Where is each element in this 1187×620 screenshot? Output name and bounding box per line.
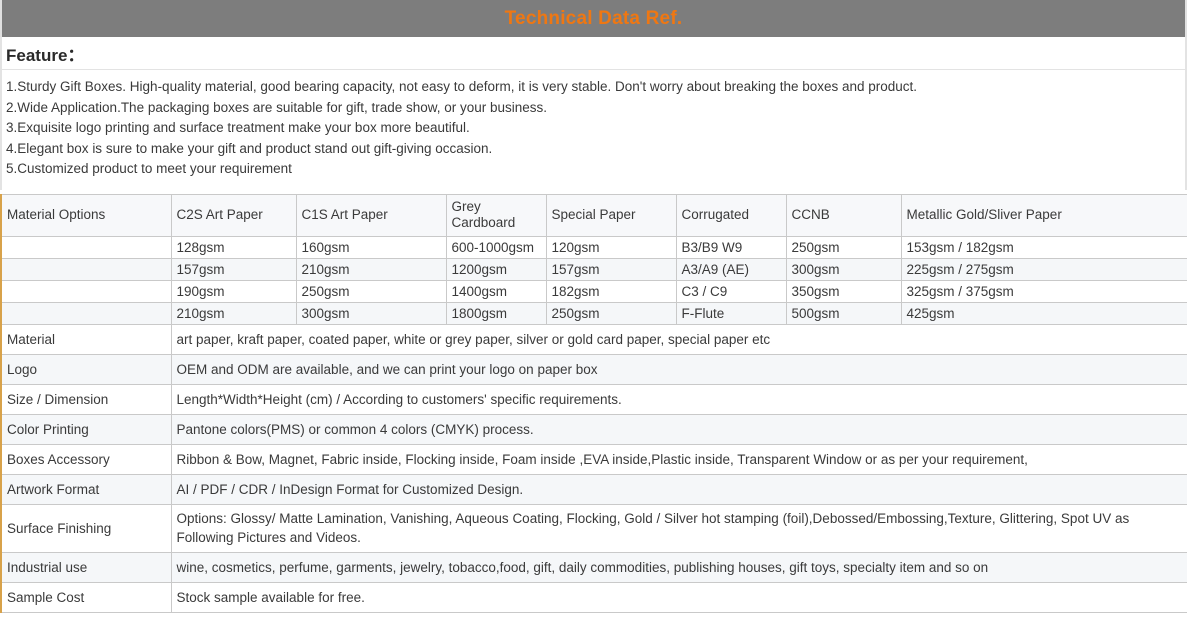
title-banner: Technical Data Ref. xyxy=(0,0,1187,37)
specification-table: Material Options C2S Art Paper C1S Art P… xyxy=(0,194,1187,613)
cell-ccnb: 250gsm xyxy=(786,236,901,258)
cell-c1s: 160gsm xyxy=(296,236,446,258)
table-row-boxes-accessory: Boxes Accessory Ribbon & Bow, Magnet, Fa… xyxy=(1,444,1187,474)
cell-c2s: 210gsm xyxy=(171,302,296,324)
row-value-surface-finishing: Options: Glossy/ Matte Lamination, Vanis… xyxy=(171,504,1187,552)
cell-metallic: 225gsm / 275gsm xyxy=(901,258,1187,280)
cell-c1s: 250gsm xyxy=(296,280,446,302)
cell-c2s: 190gsm xyxy=(171,280,296,302)
table-row-material: Material art paper, kraft paper, coated … xyxy=(1,324,1187,354)
row-value-color-printing: Pantone colors(PMS) or common 4 colors (… xyxy=(171,414,1187,444)
row-label-color-printing: Color Printing xyxy=(1,414,171,444)
cell-material-options xyxy=(1,236,171,258)
cell-special-paper: 250gsm xyxy=(546,302,676,324)
cell-grey-cardboard: 600-1000gsm xyxy=(446,236,546,258)
cell-c1s: 210gsm xyxy=(296,258,446,280)
table-row: 210gsm 300gsm 1800gsm 250gsm F-Flute 500… xyxy=(1,302,1187,324)
table-row-size-dimension: Size / Dimension Length*Width*Height (cm… xyxy=(1,384,1187,414)
row-value-artwork-format: AI / PDF / CDR / InDesign Format for Cus… xyxy=(171,474,1187,504)
row-label-sample-cost: Sample Cost xyxy=(1,582,171,612)
table-row-sample-cost: Sample Cost Stock sample available for f… xyxy=(1,582,1187,612)
table-row-color-printing: Color Printing Pantone colors(PMS) or co… xyxy=(1,414,1187,444)
feature-line: 1.Sturdy Gift Boxes. High-quality materi… xyxy=(6,77,1181,98)
column-header-material-options: Material Options xyxy=(1,194,171,236)
table-row: 190gsm 250gsm 1400gsm 182gsm C3 / C9 350… xyxy=(1,280,1187,302)
table-row-surface-finishing: Surface Finishing Options: Glossy/ Matte… xyxy=(1,504,1187,552)
cell-material-options xyxy=(1,258,171,280)
column-header-metallic-paper: Metallic Gold/Sliver Paper xyxy=(901,194,1187,236)
row-label-surface-finishing: Surface Finishing xyxy=(1,504,171,552)
row-value-sample-cost: Stock sample available for free. xyxy=(171,582,1187,612)
table-row-industrial-use: Industrial use wine, cosmetics, perfume,… xyxy=(1,552,1187,582)
cell-metallic: 153gsm / 182gsm xyxy=(901,236,1187,258)
cell-metallic: 425gsm xyxy=(901,302,1187,324)
column-header-grey-cardboard: Grey Cardboard xyxy=(446,194,546,236)
cell-grey-cardboard: 1800gsm xyxy=(446,302,546,324)
technical-data-sheet: Technical Data Ref. Feature： 1.Sturdy Gi… xyxy=(0,0,1187,620)
material-table-header-row: Material Options C2S Art Paper C1S Art P… xyxy=(1,194,1187,236)
row-label-material: Material xyxy=(1,324,171,354)
cell-corrugated: A3/A9 (AE) xyxy=(676,258,786,280)
cell-special-paper: 157gsm xyxy=(546,258,676,280)
cell-corrugated: C3 / C9 xyxy=(676,280,786,302)
row-label-artwork-format: Artwork Format xyxy=(1,474,171,504)
cell-c1s: 300gsm xyxy=(296,302,446,324)
cell-special-paper: 120gsm xyxy=(546,236,676,258)
cell-ccnb: 300gsm xyxy=(786,258,901,280)
column-header-ccnb: CCNB xyxy=(786,194,901,236)
cell-metallic: 325gsm / 375gsm xyxy=(901,280,1187,302)
cell-corrugated: F-Flute xyxy=(676,302,786,324)
cell-ccnb: 350gsm xyxy=(786,280,901,302)
cell-grey-cardboard: 1400gsm xyxy=(446,280,546,302)
column-header-c2s-art-paper: C2S Art Paper xyxy=(171,194,296,236)
cell-material-options xyxy=(1,280,171,302)
feature-list: 1.Sturdy Gift Boxes. High-quality materi… xyxy=(0,70,1187,190)
feature-heading: Feature： xyxy=(6,41,84,66)
row-value-industrial-use: wine, cosmetics, perfume, garments, jewe… xyxy=(171,552,1187,582)
table-row: 128gsm 160gsm 600-1000gsm 120gsm B3/B9 W… xyxy=(1,236,1187,258)
feature-line: 5.Customized product to meet your requir… xyxy=(6,159,1181,180)
row-value-boxes-accessory: Ribbon & Bow, Magnet, Fabric inside, Flo… xyxy=(171,444,1187,474)
row-label-boxes-accessory: Boxes Accessory xyxy=(1,444,171,474)
cell-corrugated: B3/B9 W9 xyxy=(676,236,786,258)
column-header-corrugated: Corrugated xyxy=(676,194,786,236)
page-title: Technical Data Ref. xyxy=(505,9,683,28)
feature-heading-bar: Feature： xyxy=(0,37,1187,70)
row-label-size-dimension: Size / Dimension xyxy=(1,384,171,414)
row-value-logo: OEM and ODM are available, and we can pr… xyxy=(171,354,1187,384)
row-value-size-dimension: Length*Width*Height (cm) / According to … xyxy=(171,384,1187,414)
cell-grey-cardboard: 1200gsm xyxy=(446,258,546,280)
cell-c2s: 157gsm xyxy=(171,258,296,280)
feature-line: 4.Elegant box is sure to make your gift … xyxy=(6,139,1181,160)
table-row-artwork-format: Artwork Format AI / PDF / CDR / InDesign… xyxy=(1,474,1187,504)
column-header-c1s-art-paper: C1S Art Paper xyxy=(296,194,446,236)
feature-line: 2.Wide Application.The packaging boxes a… xyxy=(6,98,1181,119)
table-row: 157gsm 210gsm 1200gsm 157gsm A3/A9 (AE) … xyxy=(1,258,1187,280)
row-label-industrial-use: Industrial use xyxy=(1,552,171,582)
table-row-logo: Logo OEM and ODM are available, and we c… xyxy=(1,354,1187,384)
cell-ccnb: 500gsm xyxy=(786,302,901,324)
column-header-special-paper: Special Paper xyxy=(546,194,676,236)
feature-line: 3.Exquisite logo printing and surface tr… xyxy=(6,118,1181,139)
cell-material-options xyxy=(1,302,171,324)
cell-special-paper: 182gsm xyxy=(546,280,676,302)
row-value-material: art paper, kraft paper, coated paper, wh… xyxy=(171,324,1187,354)
row-label-logo: Logo xyxy=(1,354,171,384)
cell-c2s: 128gsm xyxy=(171,236,296,258)
